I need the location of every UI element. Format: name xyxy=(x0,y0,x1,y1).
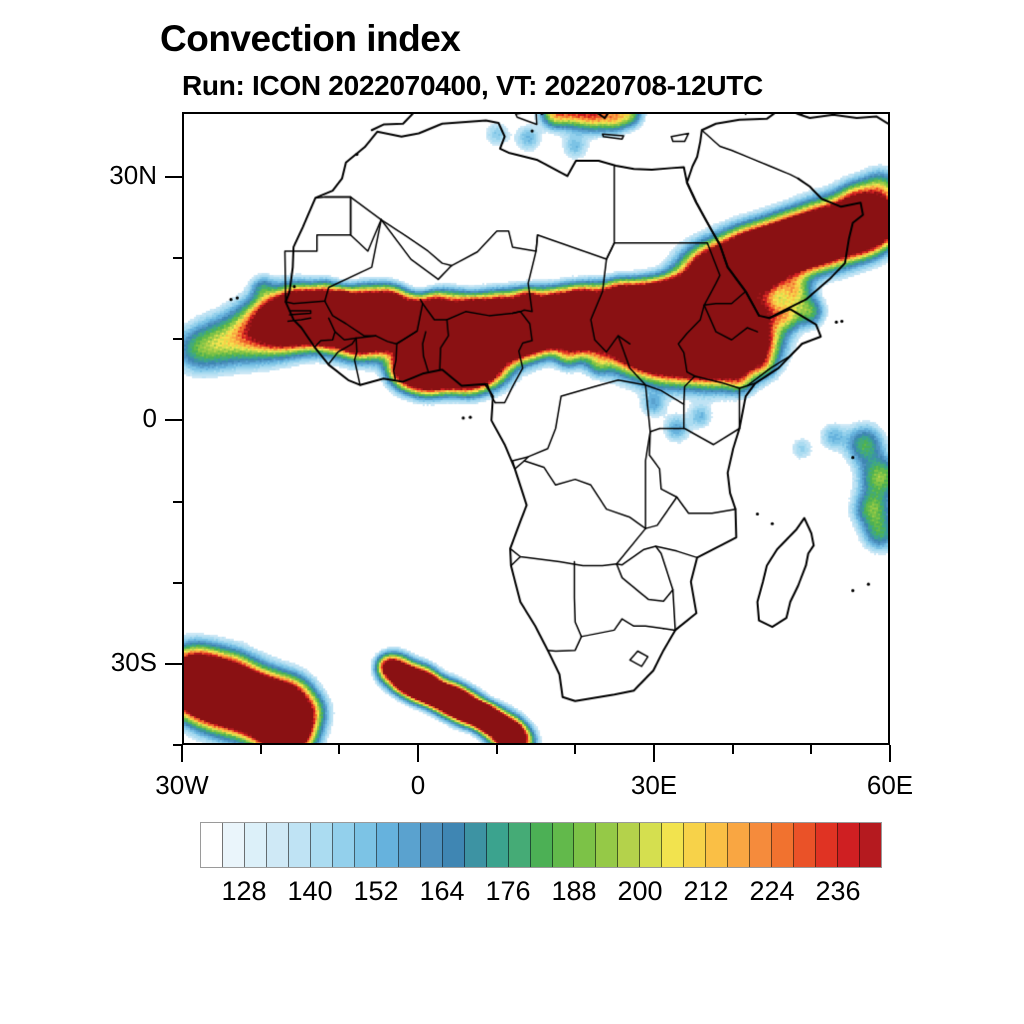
y-minor-tick xyxy=(173,257,182,259)
x-axis-tick-label: 30W xyxy=(122,770,242,801)
x-minor-tick xyxy=(732,745,734,754)
colorbar-cell xyxy=(838,823,860,867)
y-major-tick xyxy=(165,419,182,421)
x-minor-tick xyxy=(338,745,340,754)
x-axis-tick-label: 0 xyxy=(358,770,478,801)
colorbar-cell xyxy=(662,823,684,867)
y-axis-tick-label: 30N xyxy=(32,160,157,191)
colorbar-tick-label: 128 xyxy=(221,876,266,907)
colorbar-tick-label: 236 xyxy=(815,876,860,907)
colorbar-cell xyxy=(355,823,377,867)
colorbar-cell xyxy=(794,823,816,867)
colorbar-cell xyxy=(750,823,772,867)
colorbar-cell xyxy=(553,823,575,867)
colorbar-cell xyxy=(860,823,881,867)
colorbar-tick-label: 176 xyxy=(485,876,530,907)
colorbar-cell xyxy=(377,823,399,867)
colorbar-cell xyxy=(596,823,618,867)
colorbar-cell xyxy=(684,823,706,867)
colorbar-cell xyxy=(640,823,662,867)
x-minor-tick xyxy=(260,745,262,754)
colorbar-cell xyxy=(443,823,465,867)
colorbar-tick-label: 152 xyxy=(353,876,398,907)
x-axis-tick-label: 60E xyxy=(830,770,950,801)
y-minor-tick xyxy=(173,582,182,584)
y-minor-tick xyxy=(173,744,182,746)
page-title: Convection index xyxy=(160,18,460,60)
colorbar-cell xyxy=(618,823,640,867)
colorbar xyxy=(200,822,882,868)
colorbar-tick-labels: 128140152164176188200212224236 xyxy=(200,876,882,910)
y-major-tick xyxy=(165,176,182,178)
run-valid-time-subtitle: Run: ICON 2022070400, VT: 20220708-12UTC xyxy=(182,70,763,102)
x-minor-tick xyxy=(496,745,498,754)
colorbar-cell xyxy=(465,823,487,867)
colorbar-cell xyxy=(201,823,223,867)
y-axis-tick-label: 30S xyxy=(32,647,157,678)
colorbar-cell xyxy=(728,823,750,867)
colorbar-cell xyxy=(772,823,794,867)
colorbar-tick-label: 164 xyxy=(419,876,464,907)
colorbar-cell xyxy=(421,823,443,867)
colorbar-tick-label: 200 xyxy=(617,876,662,907)
colorbar-cell xyxy=(333,823,355,867)
colorbar-cell xyxy=(574,823,596,867)
coastline-border-overlay xyxy=(184,114,888,743)
colorbar-tick-label: 224 xyxy=(749,876,794,907)
colorbar-cell xyxy=(816,823,838,867)
colorbar-cell xyxy=(487,823,509,867)
y-minor-tick xyxy=(173,338,182,340)
colorbar-cell xyxy=(267,823,289,867)
x-minor-tick xyxy=(574,745,576,754)
colorbar-cell xyxy=(509,823,531,867)
y-axis-tick-label: 0 xyxy=(32,403,157,434)
y-major-tick xyxy=(165,663,182,665)
x-minor-tick xyxy=(810,745,812,754)
colorbar-cell xyxy=(223,823,245,867)
colorbar-cell xyxy=(311,823,333,867)
x-major-tick xyxy=(889,745,891,762)
x-major-tick xyxy=(653,745,655,762)
x-major-tick xyxy=(181,745,183,762)
x-axis-tick-label: 30E xyxy=(594,770,714,801)
colorbar-tick-label: 212 xyxy=(683,876,728,907)
colorbar-cell xyxy=(245,823,267,867)
colorbar-cell xyxy=(289,823,311,867)
map-plot-area xyxy=(182,112,890,745)
x-major-tick xyxy=(417,745,419,762)
colorbar-tick-label: 140 xyxy=(287,876,332,907)
colorbar-cell xyxy=(531,823,553,867)
y-minor-tick xyxy=(173,501,182,503)
colorbar-tick-label: 188 xyxy=(551,876,596,907)
colorbar-cell xyxy=(399,823,421,867)
colorbar-cell xyxy=(706,823,728,867)
